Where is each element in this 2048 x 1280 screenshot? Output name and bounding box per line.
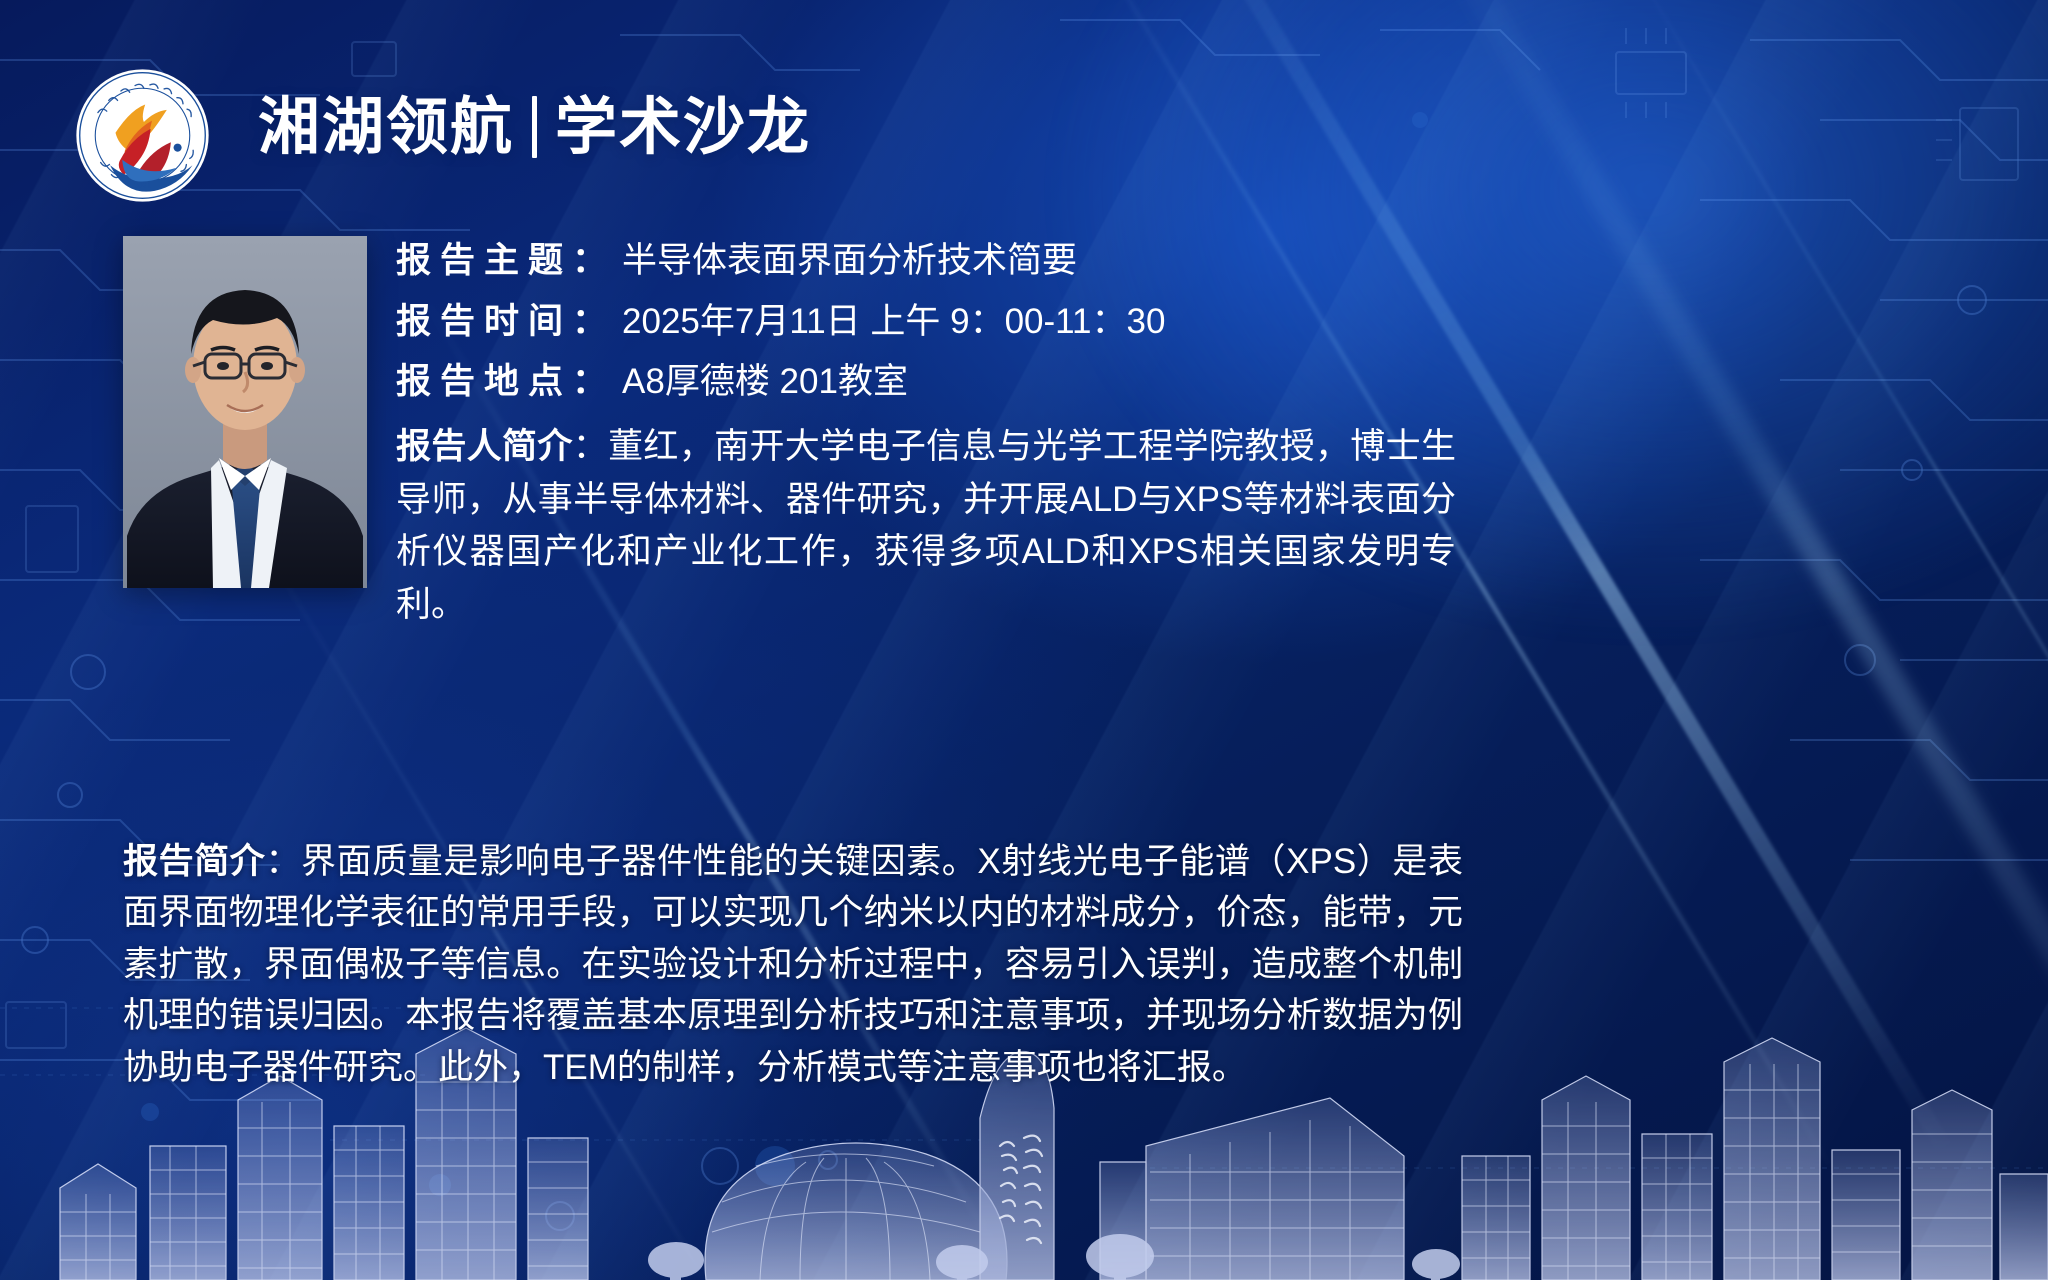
speaker-bio-label: 报告人简介 [396,427,573,466]
time-label: 报告时间： [396,297,616,347]
poster-header: 2021 湘湖领航 学术沙龙 [0,0,2048,215]
abstract-text: ：界面质量是影响电子器件性能的关键因素。X射线光电子能谱（XPS）是表面界面物理… [123,842,1463,1087]
speaker-photo [123,236,367,588]
event-title: 湘湖领航 学术沙龙 [258,96,811,158]
info-row-time: 报告时间： 2025年7月11日 上午 9：00-11：30 [396,297,1896,347]
event-title-main: 湘湖领航 [258,96,514,158]
speaker-bio: 报告人简介：董红，南开大学电子信息与光学工程学院教授，博士生导师，从事半导体材料… [396,421,1456,631]
info-row-place: 报告地点： A8厚德楼 201教室 [396,357,1896,407]
event-info-block: 报告主题： 半导体表面界面分析技术简要 报告时间： 2025年7月11日 上午 … [396,236,1896,631]
event-title-sub: 学术沙龙 [555,96,811,158]
place-value: A8厚德楼 201教室 [622,357,908,407]
logo-year: 2021 [134,180,152,190]
time-value: 2025年7月11日 上午 9：00-11：30 [622,297,1165,347]
place-label: 报告地点： [396,357,616,407]
talk-abstract: 报告简介：界面质量是影响电子器件性能的关键因素。X射线光电子能谱（XPS）是表面… [123,836,1463,1093]
topic-value: 半导体表面界面分析技术简要 [622,236,1077,286]
university-logo-icon: 2021 [75,68,210,203]
info-row-topic: 报告主题： 半导体表面界面分析技术简要 [396,236,1896,286]
poster-root: 2021 湘湖领航 学术沙龙 [0,0,2048,1280]
topic-label: 报告主题： [396,236,616,286]
abstract-label: 报告简介 [123,842,265,881]
title-divider [532,96,537,158]
